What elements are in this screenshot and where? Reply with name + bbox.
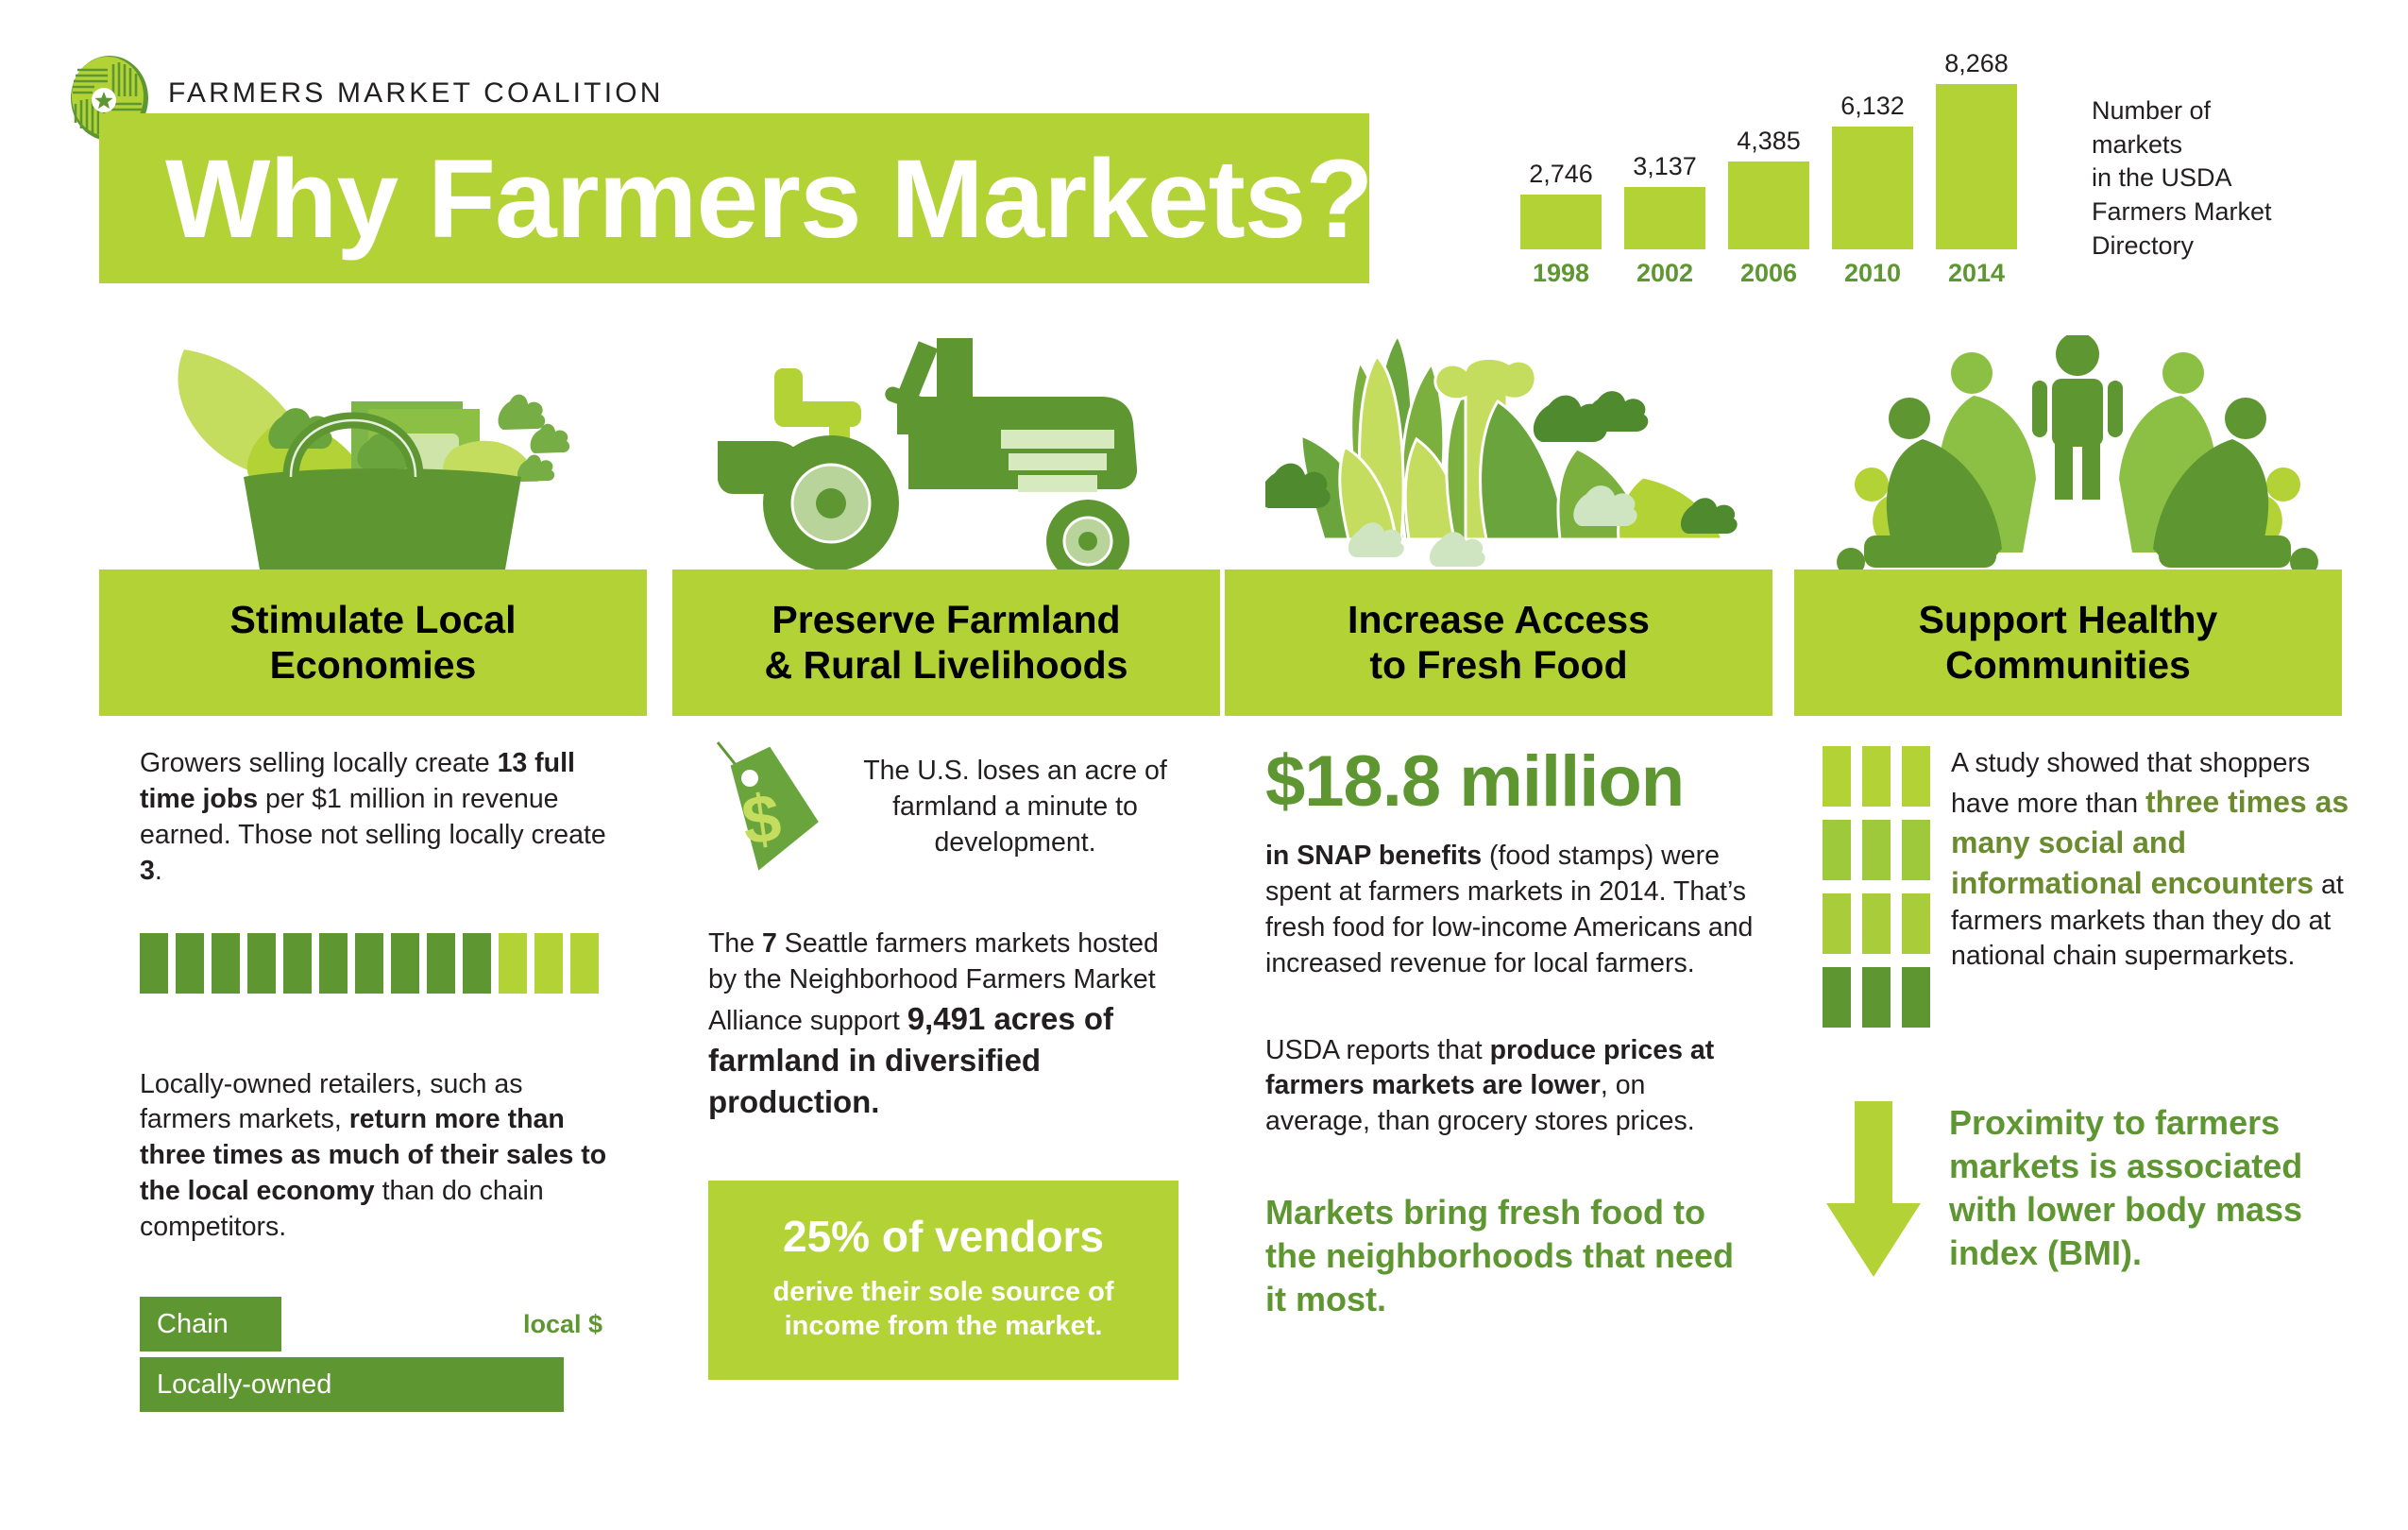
person-icon xyxy=(319,933,348,994)
bar-group-2014: 8,2682014 xyxy=(1936,84,2017,249)
person-icon xyxy=(1823,967,1851,1028)
col1-paragraph-2: Locally-owned retailers, such as farmers… xyxy=(140,1067,621,1246)
retailer-return-bar-chart: Chain local $ Locally-owned xyxy=(140,1297,602,1412)
bar-locally-owned: Locally-owned xyxy=(140,1357,564,1412)
text-fragment: The xyxy=(708,928,762,959)
jobs-pictogram xyxy=(140,933,621,994)
person-icon xyxy=(534,933,563,994)
bar xyxy=(1520,195,1602,249)
bar-chain-label: Chain xyxy=(157,1309,229,1340)
bar-group-1998: 2,7461998 xyxy=(1520,195,1602,249)
person-icon xyxy=(1823,746,1851,807)
person-icon xyxy=(1862,967,1891,1028)
person-icon xyxy=(1823,893,1851,954)
tractor-icon xyxy=(718,335,1228,571)
section-heading-label: Preserve Farmland& Rural Livelihoods xyxy=(765,598,1128,688)
snap-benefits-figure: $18.8 million xyxy=(1265,746,1756,818)
person-icon xyxy=(1902,746,1930,807)
bar-value-label: 2,746 xyxy=(1529,160,1593,189)
bar-year-label: 2002 xyxy=(1636,259,1693,288)
section-heading-preserve-farmland: Preserve Farmland& Rural Livelihoods xyxy=(672,569,1220,716)
grocery-basket-icon xyxy=(132,335,633,571)
callout-subtext: derive their sole source ofincome from t… xyxy=(721,1276,1165,1344)
social-encounters-pictogram xyxy=(1823,746,1930,1041)
chart-caption: Number ofmarketsin the USDAFarmers Marke… xyxy=(2092,94,2272,263)
column-preserve-farmland: $ The U.S. loses an acre of farmland a m… xyxy=(708,746,1192,1380)
section-heading-label: Support HealthyCommunities xyxy=(1919,598,2218,688)
section-heading-support-healthy-communities: Support HealthyCommunities xyxy=(1794,569,2342,716)
pictogram-row xyxy=(1823,820,1930,880)
vegetables-icon xyxy=(1265,335,1756,571)
bar-chain: Chain xyxy=(140,1297,281,1351)
person-icon xyxy=(1823,820,1851,880)
section-heading-label: Increase Accessto Fresh Food xyxy=(1348,598,1650,688)
person-icon xyxy=(499,933,527,994)
text-fragment: Growers selling locally create xyxy=(140,748,498,778)
bar-value-label: 3,137 xyxy=(1633,152,1697,181)
section-heading-increase-access: Increase Accessto Fresh Food xyxy=(1225,569,1772,716)
column-stimulate-local-economies: Growers selling locally create 13 full t… xyxy=(140,746,621,1412)
bar-value-label: 6,132 xyxy=(1840,92,1905,121)
bar xyxy=(1936,84,2017,249)
person-icon xyxy=(247,933,276,994)
bar xyxy=(1832,127,1913,249)
person-icon xyxy=(176,933,204,994)
col3-paragraph-1: in SNAP benefits (food stamps) were spen… xyxy=(1265,839,1756,982)
person-icon xyxy=(391,933,419,994)
bar-year-label: 1998 xyxy=(1533,259,1589,288)
markets-bar-chart: 2,74619983,13720024,38520066,13220108,26… xyxy=(1520,57,2049,302)
bar-group-2002: 3,1372002 xyxy=(1624,187,1705,249)
person-icon xyxy=(283,933,312,994)
community-arch-icon xyxy=(1832,335,2323,571)
down-arrow-icon xyxy=(1823,1101,1925,1285)
text-fragment-bold: 3 xyxy=(140,856,155,886)
page-title: Why Farmers Markets? xyxy=(165,144,1372,255)
pictogram-row xyxy=(1823,746,1930,807)
text-fragment: USDA reports that xyxy=(1265,1035,1490,1065)
section-heading-label: Stimulate LocalEconomies xyxy=(229,598,516,688)
pictogram-row xyxy=(1823,967,1930,1028)
pictogram-row xyxy=(1823,893,1930,954)
bar-year-label: 2014 xyxy=(1948,259,2005,288)
bar-value-label: 4,385 xyxy=(1737,127,1801,156)
person-icon xyxy=(1902,967,1930,1028)
col1-paragraph-1: Growers selling locally create 13 full t… xyxy=(140,746,621,890)
bar-year-label: 2006 xyxy=(1740,259,1797,288)
person-icon xyxy=(1862,893,1891,954)
person-icon xyxy=(1862,820,1891,880)
person-icon xyxy=(463,933,491,994)
callout-headline: 25% of vendors xyxy=(721,1213,1165,1261)
person-icon xyxy=(570,933,599,994)
bar-value-label: 8,268 xyxy=(1944,49,2009,78)
text-fragment: . xyxy=(155,856,162,886)
column-increase-access: $18.8 million in SNAP benefits (food sta… xyxy=(1265,746,1756,1321)
bar-group-2010: 6,1322010 xyxy=(1832,127,1913,249)
person-icon xyxy=(1902,820,1930,880)
bar-year-label: 2010 xyxy=(1844,259,1901,288)
col2-paragraph-2: The 7 Seattle farmers markets hosted by … xyxy=(708,926,1192,1122)
section-heading-stimulate-local-economies: Stimulate LocalEconomies xyxy=(99,569,647,716)
person-icon xyxy=(1862,746,1891,807)
brand-name: FARMERS MARKET COALITION xyxy=(168,77,664,110)
column-support-healthy-communities: A study showed that shoppers have more t… xyxy=(1823,746,2351,1285)
price-tag-dollar-icon: $ xyxy=(708,740,820,887)
col3-highlight: Markets bring fresh food to the neighbor… xyxy=(1265,1191,1756,1321)
col3-paragraph-2: USDA reports that produce prices at farm… xyxy=(1265,1033,1756,1141)
person-icon xyxy=(355,933,383,994)
col2-paragraph-1: The U.S. loses an acre of farmland a min… xyxy=(839,754,1192,861)
col4-paragraph-1: A study showed that shoppers have more t… xyxy=(1951,746,2351,975)
bar-locally-owned-label: Locally-owned xyxy=(157,1369,331,1401)
vendors-callout-box: 25% of vendors derive their sole source … xyxy=(708,1181,1179,1380)
person-icon xyxy=(212,933,240,994)
text-fragment-bold: 7 xyxy=(762,928,777,959)
person-icon xyxy=(140,933,168,994)
person-icon xyxy=(427,933,455,994)
bar-axis-label: local $ xyxy=(523,1310,602,1339)
bar-group-2006: 4,3852006 xyxy=(1728,161,1809,249)
text-fragment-bold: in SNAP benefits xyxy=(1265,841,1482,871)
bar xyxy=(1624,187,1705,249)
bar xyxy=(1728,161,1809,249)
col4-highlight: Proximity to farmers markets is associat… xyxy=(1949,1101,2351,1275)
person-icon xyxy=(1902,893,1930,954)
